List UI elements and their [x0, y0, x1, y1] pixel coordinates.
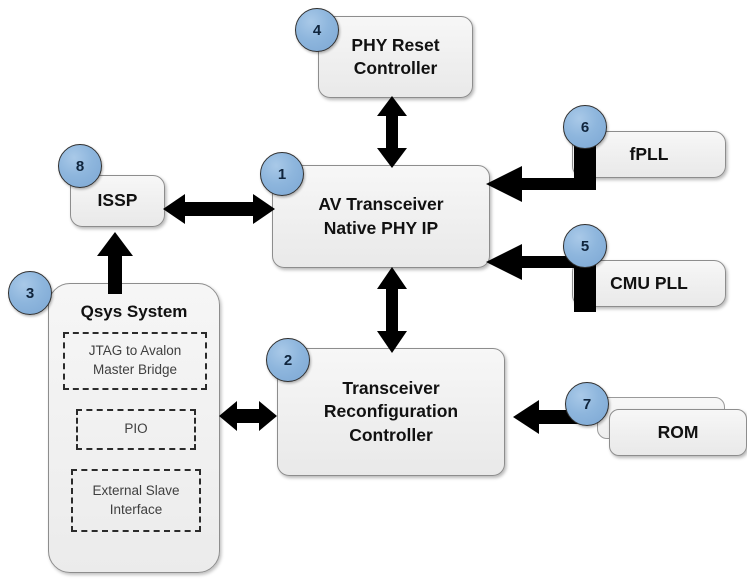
block-phy-reset-controller[interactable]: PHY Reset Controller [318, 16, 473, 98]
callout-4-number: 4 [313, 22, 321, 39]
issp-label: ISSP [98, 189, 138, 212]
reconfig-line-1: Transceiver [342, 377, 439, 400]
phy-reset-controller-line-1: PHY Reset [351, 34, 439, 57]
connector-phy-reset-to-native-phy [372, 96, 412, 168]
connector-fpll-to-native-phy [486, 146, 596, 222]
callout-6-fpll[interactable]: 6 [563, 105, 607, 149]
callout-8-number: 8 [76, 158, 84, 175]
callout-6-number: 6 [581, 119, 589, 136]
jtag-line-1: JTAG to Avalon [89, 342, 182, 361]
cmu-pll-label: CMU PLL [610, 272, 688, 295]
block-rom[interactable]: ROM [609, 409, 747, 456]
phy-reset-controller-line-2: Controller [354, 57, 438, 80]
callout-4-phy-reset-controller[interactable]: 4 [295, 8, 339, 52]
callout-1-native-phy[interactable]: 1 [260, 152, 304, 196]
callout-3-qsys-system[interactable]: 3 [8, 271, 52, 315]
reconfig-line-3: Controller [349, 424, 433, 447]
subblock-jtag-to-avalon-master-bridge[interactable]: JTAG to Avalon Master Bridge [63, 332, 207, 390]
block-diagram-canvas: PHY Reset Controller 4 AV Transceiver Na… [0, 0, 747, 588]
native-phy-line-2: Native PHY IP [324, 217, 438, 240]
rom-label: ROM [658, 421, 699, 444]
callout-2-number: 2 [284, 352, 292, 369]
reconfig-line-2: Reconfiguration [324, 400, 458, 423]
connector-native-phy-to-reconfig [372, 267, 412, 353]
subblock-external-slave-interface[interactable]: External Slave Interface [71, 469, 201, 532]
native-phy-line-1: AV Transceiver [318, 193, 443, 216]
block-qsys-system[interactable]: Qsys System JTAG to Avalon Master Bridge… [48, 283, 220, 573]
block-transceiver-reconfiguration-controller[interactable]: Transceiver Reconfiguration Controller [277, 348, 505, 476]
callout-5-number: 5 [581, 238, 589, 255]
callout-7-number: 7 [583, 396, 591, 413]
connector-qsys-to-reconfig [219, 398, 277, 434]
esi-line-1: External Slave [92, 482, 179, 501]
block-av-transceiver-native-phy-ip[interactable]: AV Transceiver Native PHY IP [272, 165, 490, 268]
esi-line-2: Interface [110, 501, 163, 520]
callout-1-number: 1 [278, 166, 286, 183]
qsys-system-title: Qsys System [49, 302, 219, 322]
callout-5-cmu-pll[interactable]: 5 [563, 224, 607, 268]
callout-3-number: 3 [26, 285, 34, 302]
pio-label: PIO [124, 420, 147, 439]
fpll-label: fPLL [630, 143, 669, 166]
subblock-pio[interactable]: PIO [76, 409, 196, 450]
jtag-line-2: Master Bridge [93, 361, 177, 380]
callout-8-issp[interactable]: 8 [58, 144, 102, 188]
callout-7-rom[interactable]: 7 [565, 382, 609, 426]
callout-2-reconfig[interactable]: 2 [266, 338, 310, 382]
connector-issp-to-native-phy [163, 191, 275, 227]
connector-qsys-to-issp [97, 232, 133, 294]
